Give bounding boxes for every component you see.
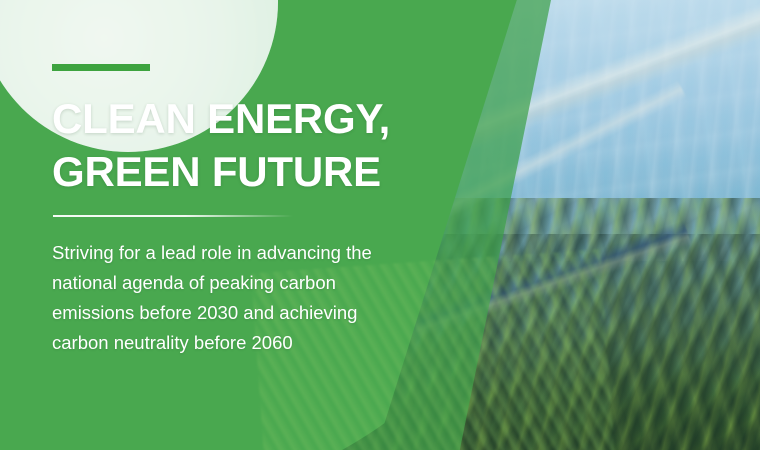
- headline-line-2: GREEN FUTURE: [52, 145, 390, 198]
- clean-energy-banner: CLEAN ENERGY, GREEN FUTURE Striving for …: [0, 0, 760, 450]
- page-subtitle: Striving for a lead role in advancing th…: [52, 238, 422, 358]
- page-title: CLEAN ENERGY, GREEN FUTURE: [52, 92, 390, 198]
- subhead-line-2: national agenda of peaking carbon: [52, 268, 422, 298]
- headline-line-1: CLEAN ENERGY,: [52, 92, 390, 145]
- banner-content: CLEAN ENERGY, GREEN FUTURE Striving for …: [52, 0, 482, 450]
- subhead-line-4: carbon neutrality before 2060: [52, 328, 422, 358]
- subhead-line-1: Striving for a lead role in advancing th…: [52, 238, 422, 268]
- accent-bar: [52, 64, 150, 71]
- subhead-line-3: emissions before 2030 and achieving: [52, 298, 422, 328]
- title-divider: [53, 215, 293, 217]
